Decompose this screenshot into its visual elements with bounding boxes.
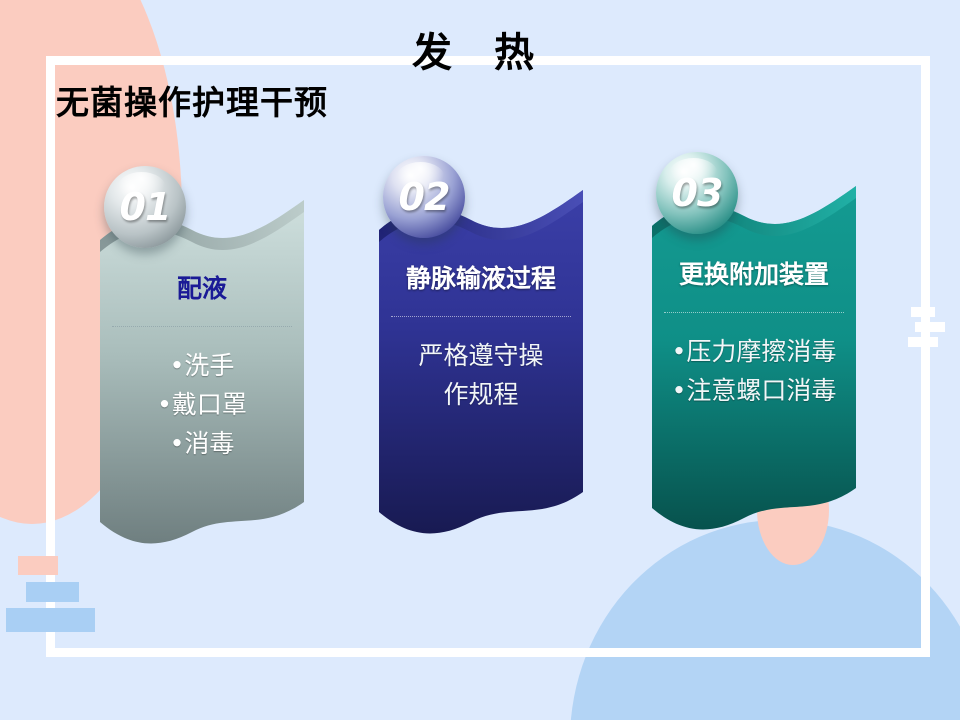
decorative-tick-blue-small xyxy=(26,582,79,602)
page-subtitle: 无菌操作护理干预 xyxy=(56,76,328,124)
banner-shape-02 xyxy=(375,186,587,536)
number-badge-01[interactable]: 01 xyxy=(104,166,186,248)
banner-card-01[interactable]: 配液 •洗手 •戴口罩 •消毒 xyxy=(96,196,308,546)
banner-shape-03 xyxy=(648,182,860,532)
decorative-tick-pink xyxy=(18,556,58,575)
number-badge-label-01: 01 xyxy=(104,166,186,248)
slide-canvas: 发 热 无菌操作护理干预 配液 •洗手 xyxy=(0,0,960,720)
number-badge-label-03: 03 xyxy=(656,152,738,234)
banner-card-02[interactable]: 静脉输液过程 严格遵守操 作规程 xyxy=(375,186,587,536)
frame-right-line xyxy=(921,56,930,656)
number-badge-03[interactable]: 03 xyxy=(656,152,738,234)
decorative-tick-white-3 xyxy=(908,337,938,347)
decorative-tick-blue-large xyxy=(6,608,95,632)
number-badge-02[interactable]: 02 xyxy=(383,156,465,238)
page-title: 发 热 xyxy=(0,20,960,78)
banner-shape-01 xyxy=(96,196,308,546)
decorative-blob-blue-bottom xyxy=(570,520,960,720)
banner-card-03[interactable]: 更换附加装置 •压力摩擦消毒 •注意螺口消毒 xyxy=(648,182,860,532)
decorative-tick-white-1 xyxy=(911,307,935,317)
decorative-tick-white-2 xyxy=(915,322,945,332)
number-badge-label-02: 02 xyxy=(383,156,465,238)
frame-bottom-line xyxy=(46,648,930,657)
